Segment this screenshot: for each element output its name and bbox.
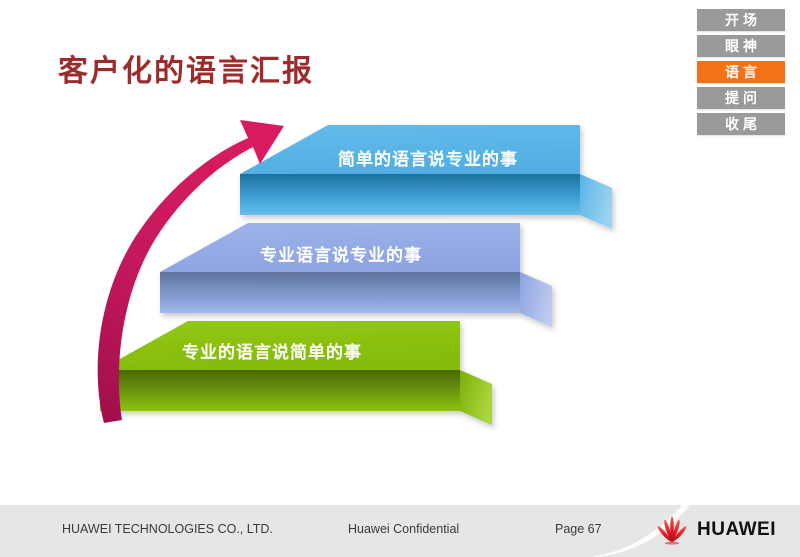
staircase-svg: 专业的语言说简单的事 专业语言说专业的事 简单的语言说专业的事: [60, 120, 620, 460]
step-2-label: 专业语言说专业的事: [260, 245, 422, 265]
step-3-front-face: [240, 174, 580, 215]
step-1-side-face: [460, 370, 492, 425]
step-1-label: 专业的语言说简单的事: [182, 342, 362, 362]
footer-company-name: HUAWEI TECHNOLOGIES CO., LTD.: [62, 522, 273, 536]
step-block-2[interactable]: [160, 223, 552, 327]
page-title: 客户化的语言汇报: [58, 46, 314, 90]
step-1-front-face: [100, 370, 460, 411]
staircase-diagram: 专业的语言说简单的事 专业语言说专业的事 简单的语言说专业的事: [60, 120, 620, 460]
step-3-label: 简单的语言说专业的事: [338, 149, 518, 169]
step-3-side-face: [580, 174, 612, 229]
footer-confidentiality-notice: Huawei Confidential: [348, 522, 459, 536]
nav-chip-yanshen[interactable]: 眼神: [697, 35, 785, 57]
step-2-front-face: [160, 272, 520, 313]
section-nav: 开场 眼神 语言 提问 收尾: [697, 9, 785, 135]
huawei-wordmark: HUAWEI: [697, 519, 776, 541]
presentation-slide: 客户化的语言汇报 开场 眼神 语言 提问 收尾: [0, 0, 800, 557]
nav-chip-tiwen[interactable]: 提问: [697, 87, 785, 109]
step-2-side-face: [520, 272, 552, 327]
huawei-logo: HUAWEI: [655, 515, 776, 545]
footer-page-number: Page 67: [555, 522, 602, 536]
step-block-1[interactable]: [100, 321, 492, 425]
nav-chip-yuyan[interactable]: 语言: [697, 61, 785, 83]
huawei-flower-icon: [655, 515, 689, 545]
nav-chip-shouwei[interactable]: 收尾: [697, 113, 785, 135]
slide-footer: HUAWEI TECHNOLOGIES CO., LTD. Huawei Con…: [0, 505, 800, 557]
step-block-3[interactable]: [240, 125, 612, 229]
nav-chip-kaichang[interactable]: 开场: [697, 9, 785, 31]
